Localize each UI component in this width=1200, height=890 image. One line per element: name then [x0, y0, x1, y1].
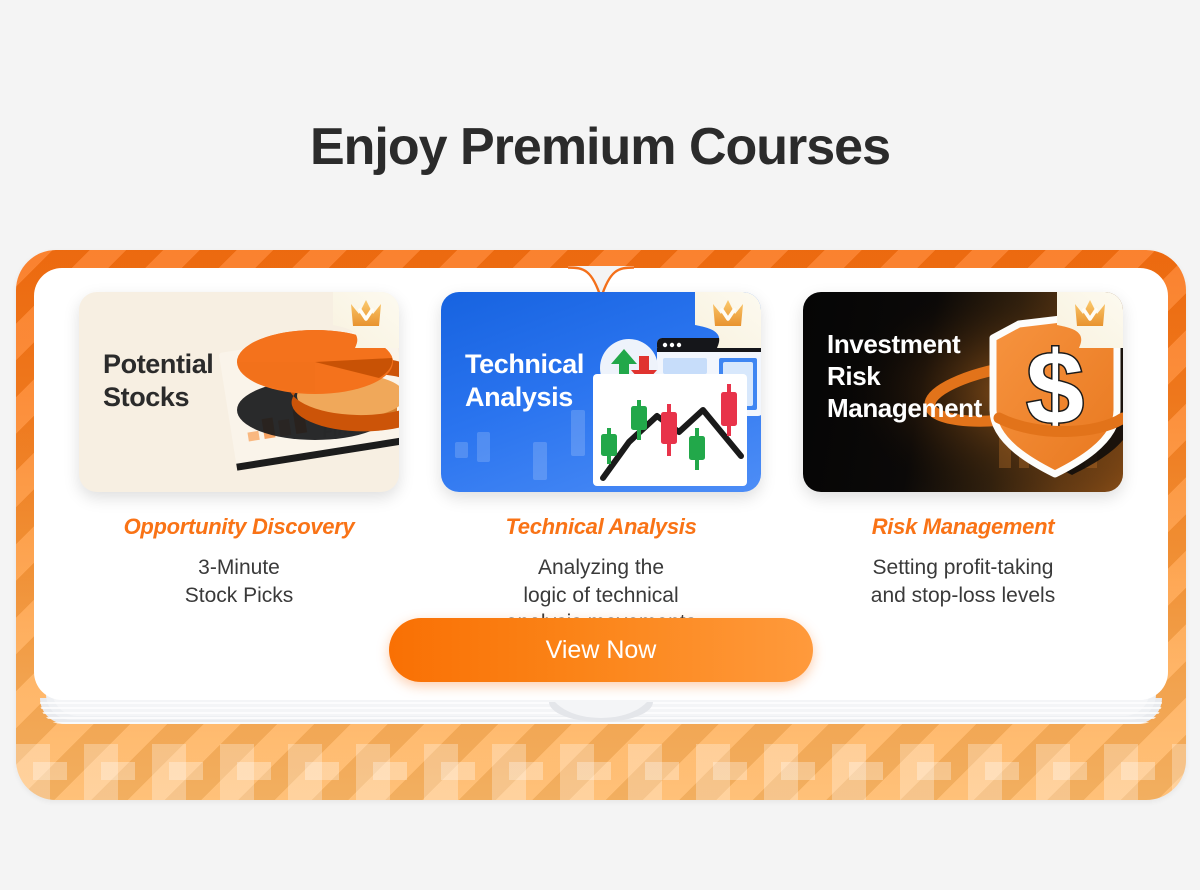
caption-description: 3-Minute Stock Picks	[185, 554, 294, 609]
course-cards-row: Financials	[34, 268, 1168, 637]
caption-description: Setting profit-taking and stop-loss leve…	[871, 554, 1055, 609]
caption-title: Risk Management	[872, 514, 1055, 540]
card-title: Potential Stocks	[103, 348, 213, 415]
course-column-3: $ Investment Risk Management Risk Manage…	[803, 292, 1123, 637]
course-card-technical-analysis[interactable]: Technical Analysis	[441, 292, 761, 492]
course-card-risk-management[interactable]: $ Investment Risk Management	[803, 292, 1123, 492]
crown-icon	[1057, 292, 1123, 348]
course-card-opportunity-discovery[interactable]: Financials	[79, 292, 399, 492]
caption-title: Opportunity Discovery	[124, 514, 355, 540]
caption-title: Technical Analysis	[505, 514, 696, 540]
frame-dashed-band	[16, 744, 1186, 800]
course-column-1: Financials	[79, 292, 399, 637]
premium-courses-frame: Financials	[16, 250, 1186, 800]
page-title: Enjoy Premium Courses	[0, 117, 1200, 177]
course-column-2: Technical Analysis Technical Analysis An…	[441, 292, 761, 637]
crown-icon	[333, 292, 399, 348]
card-title: Technical Analysis	[465, 348, 584, 415]
courses-panel: Financials	[34, 268, 1168, 700]
crown-icon	[695, 292, 761, 348]
card-title: Investment Risk Management	[827, 328, 982, 425]
view-now-button[interactable]: View Now	[389, 618, 813, 682]
